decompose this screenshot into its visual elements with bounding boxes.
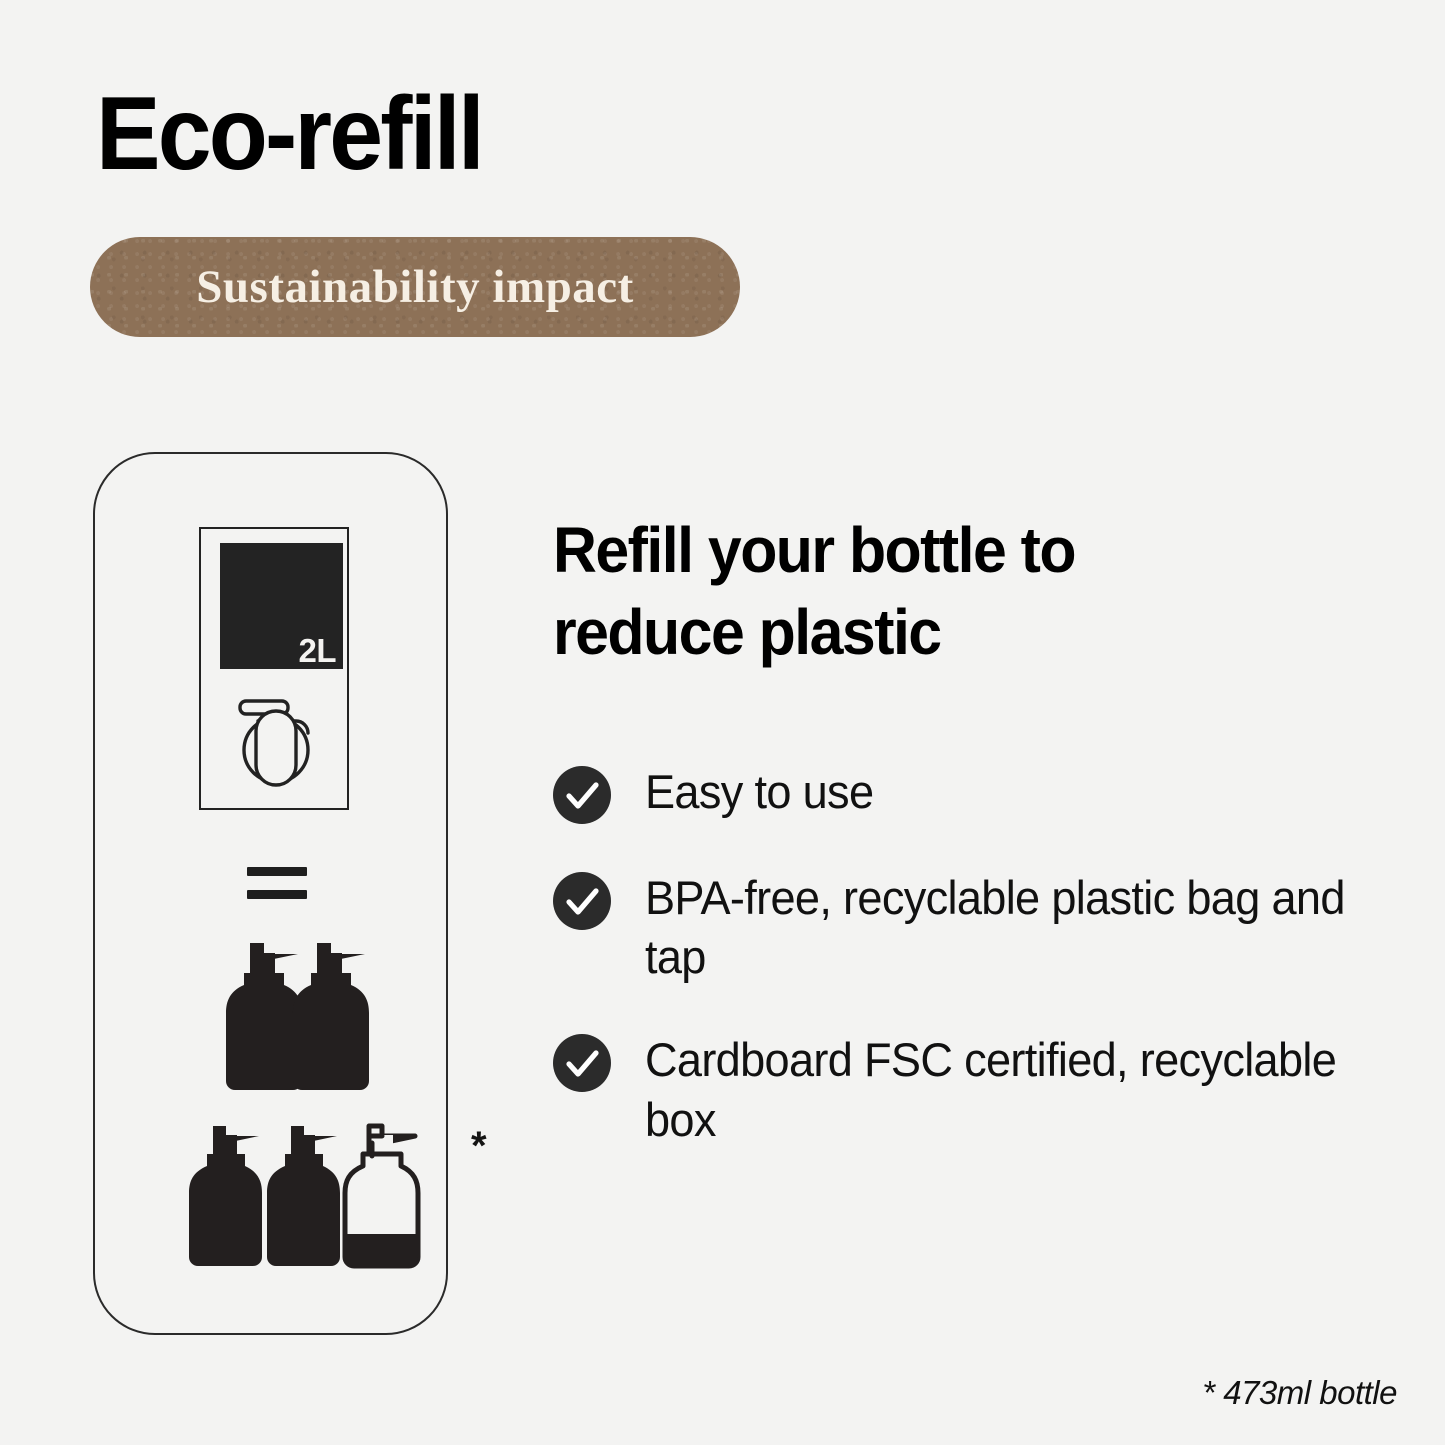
carton-window: 2L (220, 543, 343, 669)
content-heading: Refill your bottle to reduce plastic (553, 510, 1237, 674)
benefit-item: Easy to use (553, 762, 1383, 824)
content-heading-line-2: reduce plastic (553, 592, 1237, 674)
check-circle-icon (553, 872, 611, 930)
pump-bottle-outlined-quarter-full (335, 1122, 427, 1269)
carton-volume-label: 2L (298, 634, 336, 667)
badge-label: Sustainability impact (196, 260, 634, 314)
benefit-item: BPA-free, recyclable plastic bag and tap (553, 868, 1383, 986)
eco-refill-equivalence-panel: 2L (93, 452, 448, 1335)
tap-spout-icon (234, 693, 318, 787)
sustainability-impact-badge: Sustainability impact (90, 237, 740, 337)
footnote-asterisk-marker: * (471, 1126, 487, 1166)
equals-bar-top (247, 867, 307, 876)
benefit-item: Cardboard FSC certified, recyclable box (553, 1030, 1383, 1148)
bottle-row-three: * (179, 1122, 491, 1269)
check-circle-icon (553, 1034, 611, 1092)
bottle-row-two (214, 939, 440, 1094)
pump-bottle-filled (281, 939, 377, 1094)
footnote-text: * 473ml bottle (1202, 1374, 1397, 1412)
benefit-label: Cardboard FSC certified, recyclable box (645, 1030, 1353, 1148)
benefits-list: Easy to use BPA-free, recyclable plastic… (553, 762, 1383, 1193)
benefit-label: Easy to use (645, 762, 873, 821)
equals-symbol (247, 867, 307, 899)
refill-carton-illustration: 2L (199, 527, 349, 810)
equals-bar-bottom (247, 890, 307, 899)
benefit-label: BPA-free, recyclable plastic bag and tap (645, 868, 1353, 986)
infographic-canvas: Eco-refill Sustainability impact 2L (0, 0, 1445, 1445)
check-circle-icon (553, 766, 611, 824)
content-heading-line-1: Refill your bottle to (553, 510, 1237, 592)
page-title: Eco-refill (96, 82, 482, 186)
